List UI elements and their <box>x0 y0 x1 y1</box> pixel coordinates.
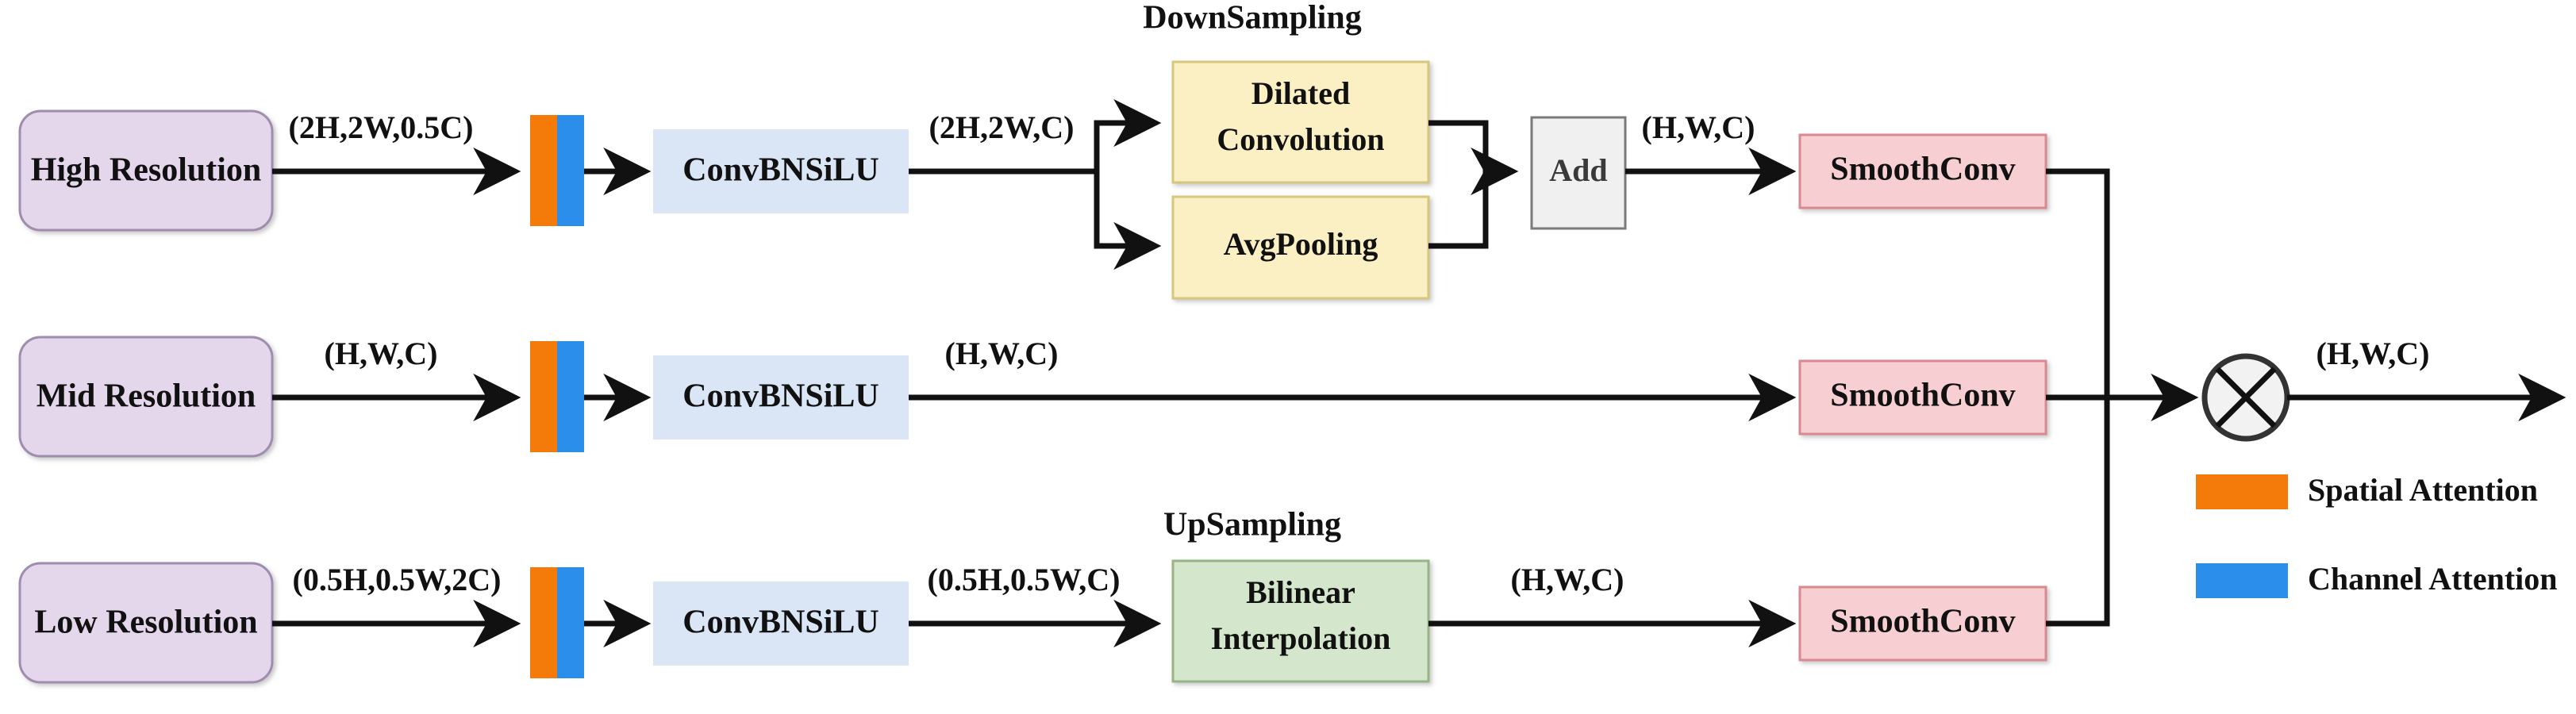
diagram-canvas: DownSampling High Resolution (2H,2W,0.5C… <box>0 0 2576 714</box>
tensor-label-mid-postconv: (H,W,C) <box>945 336 1059 371</box>
legend-label-spatial-attention: Spatial Attention <box>2308 472 2538 508</box>
spatial-attention-bar-high[interactable] <box>530 115 557 226</box>
channel-attention-bar-mid[interactable] <box>557 341 584 452</box>
conv-label-high: ConvBNSiLU <box>682 152 879 189</box>
input-label-high: High Resolution <box>31 152 262 189</box>
tensor-label-output: (H,W,C) <box>2316 336 2430 371</box>
add-label: Add <box>1549 152 1607 188</box>
group-label-upsampling: UpSampling <box>1163 507 1341 543</box>
smoothconv-label-low: SmoothConv <box>1830 604 2015 640</box>
tensor-label-low-input: (0.5H,0.5W,2C) <box>293 562 502 597</box>
input-label-mid: Mid Resolution <box>37 378 256 415</box>
dilated-convolution-label-line2: Convolution <box>1217 121 1384 157</box>
smoothconv-label-mid: SmoothConv <box>1830 378 2015 414</box>
legend-swatch-channel-attention <box>2196 563 2288 598</box>
bilinear-interpolation-label-line2: Interpolation <box>1211 620 1391 656</box>
conv-label-low: ConvBNSiLU <box>682 605 879 641</box>
wire-avgpooling-to-add <box>1428 171 1512 246</box>
tensor-label-low-postinterp: (H,W,C) <box>1511 562 1624 597</box>
smoothconv-label-high: SmoothConv <box>1830 152 2015 188</box>
legend-swatch-spatial-attention <box>2196 474 2288 509</box>
spatial-attention-bar-mid[interactable] <box>530 341 557 452</box>
tensor-label-mid-input: (H,W,C) <box>325 336 438 371</box>
wire-fork-to-dilated-conv <box>1097 123 1155 171</box>
avgpooling-label: AvgPooling <box>1224 226 1378 262</box>
wire-fork-to-avgpooling <box>1097 171 1155 246</box>
channel-attention-bar-low[interactable] <box>557 567 584 678</box>
input-label-low: Low Resolution <box>34 605 257 641</box>
legend: Spatial Attention Channel Attention <box>2196 472 2558 598</box>
wire-dilated-conv-to-add <box>1428 123 1512 171</box>
conv-label-mid: ConvBNSiLU <box>682 378 879 415</box>
tensor-label-low-postconv: (0.5H,0.5W,C) <box>928 562 1121 597</box>
spatial-attention-bar-low[interactable] <box>530 567 557 678</box>
tensor-label-high-postconv: (2H,2W,C) <box>929 109 1075 145</box>
bilinear-interpolation-label-line1: Bilinear <box>1246 574 1355 610</box>
legend-label-channel-attention: Channel Attention <box>2308 561 2558 597</box>
group-label-downsampling: DownSampling <box>1143 0 1361 36</box>
tensor-label-high-postadd: (H,W,C) <box>1642 109 1755 145</box>
tensor-label-high-input: (2H,2W,0.5C) <box>289 109 474 145</box>
dilated-convolution-label-line1: Dilated <box>1251 75 1350 111</box>
channel-attention-bar-high[interactable] <box>557 115 584 226</box>
diagram-svg: DownSampling High Resolution (2H,2W,0.5C… <box>0 0 2576 714</box>
multiply-operator-node[interactable] <box>2205 356 2287 439</box>
